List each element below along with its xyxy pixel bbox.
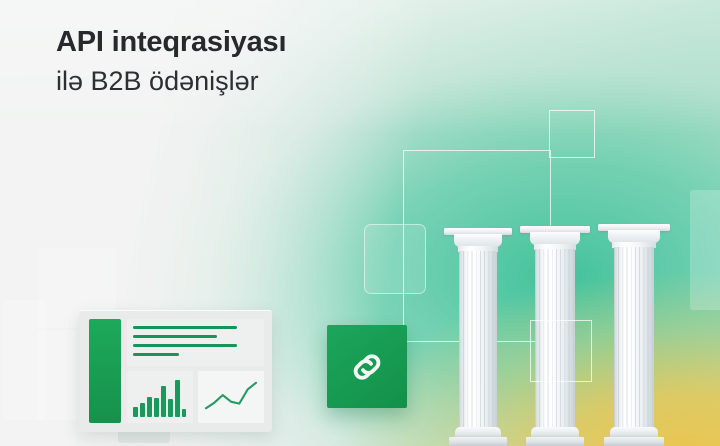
bar-chart-bar: [168, 399, 173, 417]
headline-line-2: ilə B2B ödənişlər: [56, 62, 286, 100]
bar-chart-bar: [133, 407, 138, 417]
dashboard-line-chart: [198, 371, 264, 423]
dashboard-text-line: [133, 353, 179, 356]
dashboard-text-line: [133, 344, 237, 347]
api-link-card: [327, 325, 407, 408]
dashboard-sidebar: [89, 319, 121, 423]
chain-link-icon: [347, 347, 387, 387]
dashboard-stand: [118, 432, 170, 443]
dashboard-bar-chart: [127, 371, 193, 423]
column-plinth: [449, 437, 506, 446]
bar-chart-bars: [133, 377, 189, 417]
column-shaft: [614, 247, 654, 430]
bar-chart-bar: [175, 380, 180, 417]
column-plinth: [604, 437, 664, 446]
decor-square-column-overlay: [530, 320, 592, 382]
line-chart-svg: [198, 371, 264, 423]
decor-square-left-edge: [2, 300, 46, 420]
dashboard-text-line: [133, 335, 217, 338]
bar-chart-bar: [182, 409, 187, 417]
headline-block: API inteqrasiyası ilə B2B ödənişlər: [56, 22, 286, 100]
bar-chart-bar: [140, 403, 145, 417]
classical-column-3: [598, 224, 670, 446]
decor-square-top-small: [549, 110, 595, 158]
column-shaft: [459, 251, 497, 430]
dashboard-text-line: [133, 326, 237, 329]
column-plinth: [526, 437, 585, 446]
promo-banner: API inteqrasiyası ilə B2B ödənişlər: [0, 0, 720, 446]
bar-chart-bar: [154, 398, 159, 417]
classical-column-1: [444, 228, 512, 446]
decor-square-right-edge: [690, 190, 720, 310]
bar-chart-bar: [147, 397, 152, 417]
decor-square-mid: [364, 224, 426, 294]
headline-line-1: API inteqrasiyası: [56, 22, 286, 62]
analytics-dashboard-card: [79, 310, 272, 432]
bar-chart-bar: [161, 386, 166, 417]
